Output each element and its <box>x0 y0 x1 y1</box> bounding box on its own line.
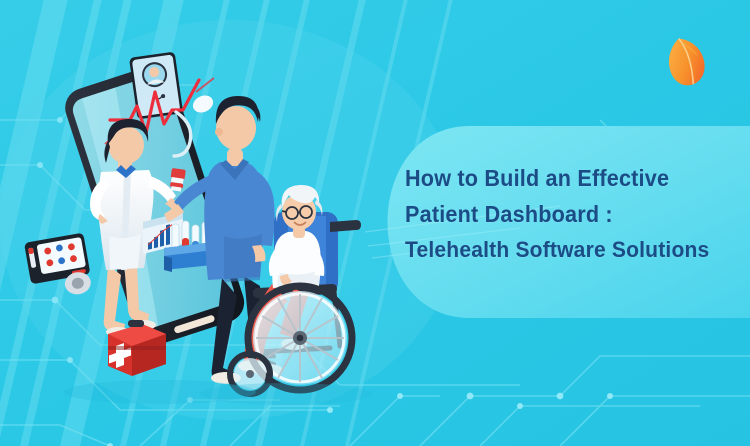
pill-capsule <box>190 92 216 115</box>
blood-pressure-monitor <box>24 233 94 303</box>
telehealth-banner: How to Build an Effective Patient Dashbo… <box>0 0 750 446</box>
headline-block: How to Build an Effective Patient Dashbo… <box>405 160 725 268</box>
leaf-logo[interactable] <box>665 35 709 87</box>
headline-line-2: Patient Dashboard : <box>405 196 706 232</box>
headline-line-3: Telehealth Software Solutions <box>405 232 706 268</box>
headline-line-1: How to Build an Effective <box>405 160 706 196</box>
